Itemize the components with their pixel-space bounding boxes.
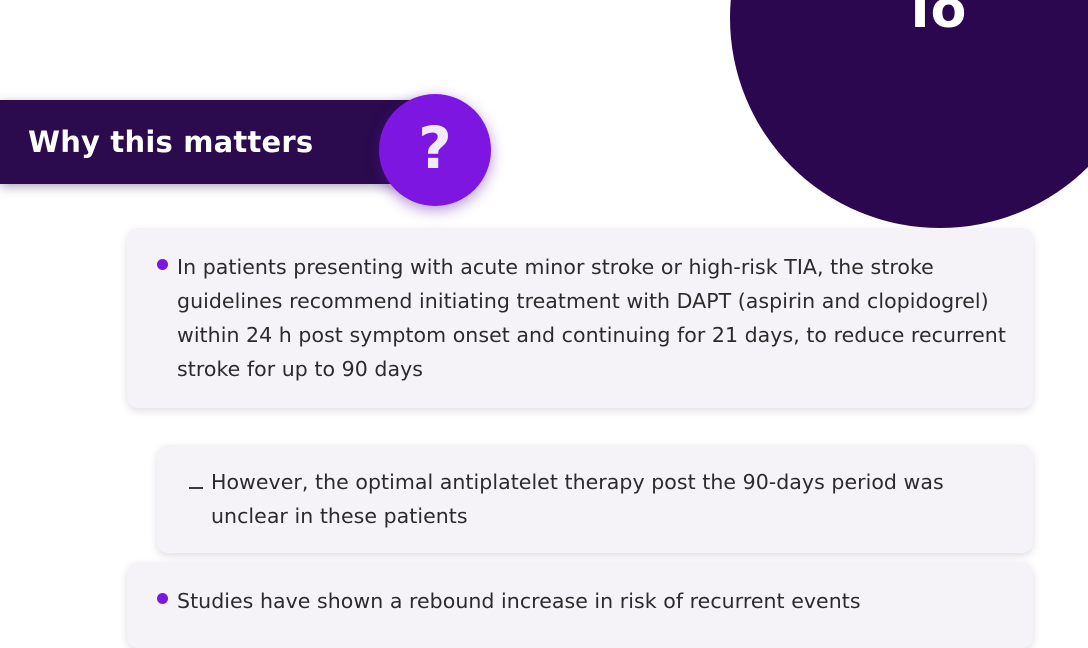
bullet-text: Studies have shown a rebound increase in… [177, 584, 1007, 618]
bullet-marker [147, 584, 177, 604]
bullet-card: In patients presenting with acute minor … [127, 228, 1033, 408]
bullet-dash-icon [189, 487, 203, 489]
sub-bullet-card: However, the optimal antiplatelet therap… [157, 445, 1033, 553]
bullet-dot-icon [157, 593, 168, 604]
sub-bullet-text: However, the optimal antiplatelet therap… [211, 465, 1007, 533]
bullet-text: In patients presenting with acute minor … [177, 250, 1007, 386]
sub-bullet-marker [181, 465, 211, 489]
bullet-dot-icon [157, 259, 168, 270]
bullet-marker [147, 250, 177, 270]
content-area: In patients presenting with acute minor … [0, 0, 1088, 612]
bullet-card: Studies have shown a rebound increase in… [127, 562, 1033, 648]
